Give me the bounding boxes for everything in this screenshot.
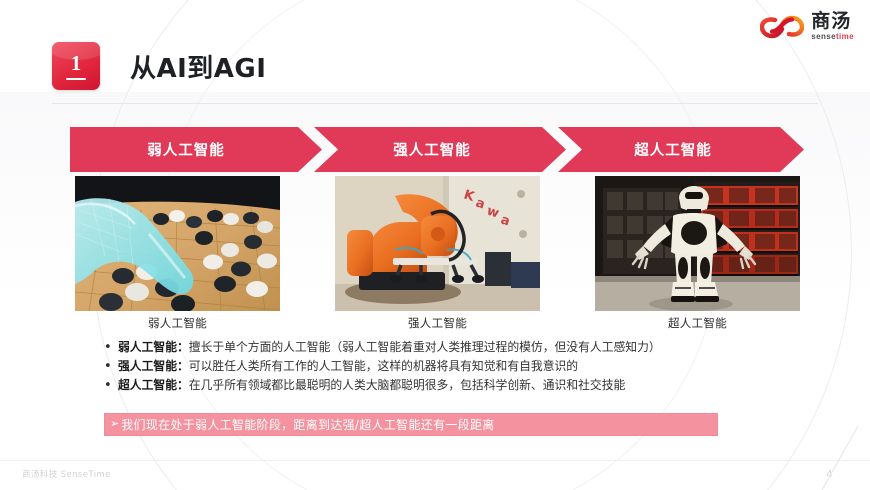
bullet-term: 超人工智能：	[118, 376, 189, 395]
process-step-1[interactable]: 弱人工智能	[70, 127, 322, 172]
footer-brand: 商汤科技 SenseTime	[22, 468, 111, 480]
process-step-1-label: 弱人工智能	[147, 139, 225, 160]
conclusion-callout: ➢ 我们现在处于弱人工智能阶段，距离到达强/超人工智能还有一段距离	[104, 413, 718, 436]
bullet-description: 可以胜任人类所有工作的人工智能，这样的机器将具有知觉和有自我意识的	[189, 357, 578, 376]
photo-card-super-ai	[595, 176, 800, 311]
bullet-marker: •	[104, 357, 118, 376]
bullet-description: 在几乎所有领域都比最聪明的人类大脑都聪明很多，包括科学创新、通识和社交技能	[189, 376, 626, 395]
page-title: 从AI到AGI	[130, 48, 266, 85]
footer-slash-decoration	[818, 426, 862, 490]
process-step-2[interactable]: 强人工智能	[314, 127, 566, 172]
logo-en-time: time	[836, 32, 854, 41]
process-chevron-band: 弱人工智能 强人工智能 超人工智能	[70, 127, 804, 172]
photo-row: K a w a	[75, 176, 800, 311]
slide-canvas: 商汤 sensetime 1 从AI到AGI 弱人工智能 强人工智能 超人工智能	[0, 0, 870, 490]
bullet-description: 擅长于单个方面的人工智能（弱人工智能着重对人类推理过程的模仿，但没有人工感知力）	[189, 338, 661, 357]
sensetime-infinity-mark	[760, 15, 804, 39]
bullet-term: 弱人工智能：	[118, 338, 189, 357]
logo-en-sense: sense	[811, 32, 836, 41]
badge-underline	[66, 78, 86, 80]
logo-chinese-name: 商汤	[811, 12, 851, 31]
bullet-item-strong-ai: • 强人工智能： 可以胜任人类所有工作的人工智能，这样的机器将具有知觉和有自我意…	[104, 357, 824, 376]
photo-caption-1: 弱人工智能	[75, 315, 280, 331]
process-step-3[interactable]: 超人工智能	[558, 127, 804, 172]
bullet-term: 强人工智能：	[118, 357, 189, 376]
footer-divider	[0, 460, 870, 461]
go-board-ai-hand-photo	[75, 176, 280, 311]
definition-bullet-list: • 弱人工智能： 擅长于单个方面的人工智能（弱人工智能着重对人类推理过程的模仿，…	[104, 338, 824, 395]
sensetime-logo: 商汤 sensetime	[760, 12, 854, 41]
page-number: 4	[826, 469, 832, 480]
process-step-3-label: 超人工智能	[634, 139, 712, 160]
callout-arrow-icon: ➢	[110, 419, 119, 430]
photo-card-strong-ai: K a w a	[335, 176, 540, 311]
section-number-badge: 1	[52, 42, 100, 90]
bullet-item-super-ai: • 超人工智能： 在几乎所有领域都比最聪明的人类大脑都聪明很多，包括科学创新、通…	[104, 376, 824, 395]
bullet-marker: •	[104, 376, 118, 395]
logo-english-name: sensetime	[811, 33, 854, 41]
logo-wordmark: 商汤 sensetime	[811, 12, 854, 41]
bullet-item-weak-ai: • 弱人工智能： 擅长于单个方面的人工智能（弱人工智能着重对人类推理过程的模仿，…	[104, 338, 824, 357]
process-step-2-label: 强人工智能	[393, 139, 471, 160]
humanoid-robot-in-store-photo	[595, 176, 800, 311]
photo-caption-3: 超人工智能	[595, 315, 800, 331]
photo-caption-2: 强人工智能	[335, 315, 540, 331]
photo-card-weak-ai	[75, 176, 280, 311]
callout-text: 我们现在处于弱人工智能阶段，距离到达强/超人工智能还有一段距离	[121, 416, 494, 433]
orange-industrial-robot-arm-photo: K a w a	[335, 176, 540, 311]
bullet-marker: •	[104, 338, 118, 357]
title-divider	[52, 103, 818, 104]
photo-caption-row: 弱人工智能 强人工智能 超人工智能	[75, 315, 800, 331]
section-number: 1	[71, 53, 82, 74]
slide-header: 1 从AI到AGI	[52, 42, 266, 90]
